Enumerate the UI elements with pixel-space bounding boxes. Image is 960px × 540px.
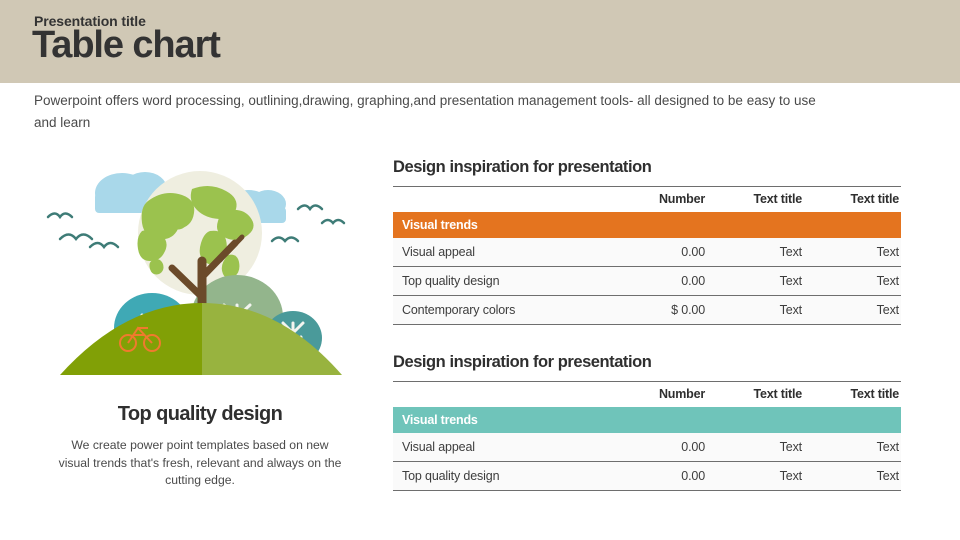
- caption-heading: Top quality design: [30, 403, 370, 426]
- table-block-2: Design inspiration for presentation Numb…: [393, 353, 901, 491]
- row-number: 0.00: [611, 433, 707, 462]
- row-label: Visual appeal: [393, 238, 611, 267]
- table-1-group-label: Visual trends: [393, 212, 901, 238]
- eco-tree-globe-illustration: [30, 165, 370, 400]
- row-text-2: Text: [804, 296, 901, 325]
- row-text-2: Text: [804, 267, 901, 296]
- table-2-col-number: Number: [611, 382, 707, 408]
- caption-body: We create power point templates based on…: [55, 437, 345, 490]
- table-row: Contemporary colors $ 0.00 Text Text: [393, 296, 901, 325]
- row-text-1: Text: [707, 267, 804, 296]
- row-label: Visual appeal: [393, 433, 611, 462]
- intro-paragraph: Powerpoint offers word processing, outli…: [34, 90, 824, 135]
- row-label: Top quality design: [393, 267, 611, 296]
- slide-canvas: Presentation title Table chart Powerpoin…: [0, 0, 960, 540]
- row-number: $ 0.00: [611, 296, 707, 325]
- table-2-col-text-title-2: Text title: [804, 382, 901, 408]
- table-row: Top quality design 0.00 Text Text: [393, 267, 901, 296]
- table-2-group-row: Visual trends: [393, 407, 901, 433]
- row-number: 0.00: [611, 462, 707, 491]
- table-1-col-text-title-1: Text title: [707, 187, 804, 213]
- table-1-col-text-title-2: Text title: [804, 187, 901, 213]
- table-row: Visual appeal 0.00 Text Text: [393, 433, 901, 462]
- page-title: Table chart: [32, 26, 220, 66]
- table-2-heading: Design inspiration for presentation: [393, 353, 901, 372]
- row-label: Contemporary colors: [393, 296, 611, 325]
- table-block-1: Design inspiration for presentation Numb…: [393, 158, 901, 325]
- table-2-body: Visual trends Visual appeal 0.00 Text Te…: [393, 407, 901, 491]
- table-2-header: Number Text title Text title: [393, 382, 901, 408]
- table-1-group-row: Visual trends: [393, 212, 901, 238]
- row-number: 0.00: [611, 267, 707, 296]
- table-header-row: Number Text title Text title: [393, 187, 901, 213]
- row-text-1: Text: [707, 238, 804, 267]
- table-1-col-number: Number: [611, 187, 707, 213]
- row-number: 0.00: [611, 238, 707, 267]
- table-2: Number Text title Text title Visual tren…: [393, 381, 901, 491]
- table-2-group-label: Visual trends: [393, 407, 901, 433]
- row-text-1: Text: [707, 462, 804, 491]
- table-header-row: Number Text title Text title: [393, 382, 901, 408]
- row-text-1: Text: [707, 296, 804, 325]
- table-2-col-text-title-1: Text title: [707, 382, 804, 408]
- table-1-col-0: [393, 187, 611, 213]
- table-row: Top quality design 0.00 Text Text: [393, 462, 901, 491]
- table-2-col-0: [393, 382, 611, 408]
- table-1-body: Visual trends Visual appeal 0.00 Text Te…: [393, 212, 901, 325]
- row-text-2: Text: [804, 462, 901, 491]
- row-text-1: Text: [707, 433, 804, 462]
- table-1: Number Text title Text title Visual tren…: [393, 186, 901, 325]
- row-text-2: Text: [804, 433, 901, 462]
- table-1-heading: Design inspiration for presentation: [393, 158, 901, 177]
- table-1-header: Number Text title Text title: [393, 187, 901, 213]
- row-text-2: Text: [804, 238, 901, 267]
- row-label: Top quality design: [393, 462, 611, 491]
- table-row: Visual appeal 0.00 Text Text: [393, 238, 901, 267]
